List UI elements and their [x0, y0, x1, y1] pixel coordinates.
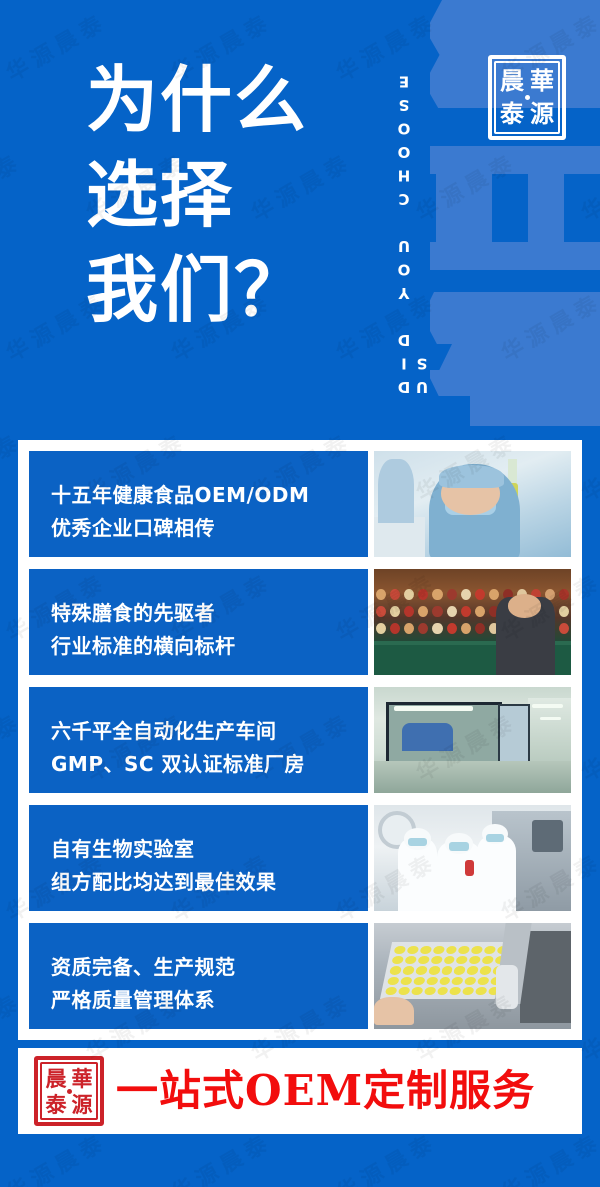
feature-card-2-photo [374, 569, 571, 675]
feature-card-2-line-2: 行业标准的横向标杆 [51, 630, 368, 663]
feature-card-4-photo [374, 805, 571, 911]
feature-card-3-photo [374, 687, 571, 793]
footer-brand-seal-icon: 晨 華 泰 源 [34, 1056, 104, 1126]
feature-card-3[interactable]: 六千平全自动化生产车间 GMP、SC 双认证标准厂房 [29, 687, 571, 793]
seal-char-3: 泰 [497, 98, 527, 132]
page-title: 为什么 选择 我们？ [86, 52, 406, 337]
footer-seal-char-1: 晨 [43, 1065, 69, 1091]
footer-banner: 晨 華 泰 源 一站式OEM定制服务 [18, 1048, 582, 1134]
feature-card-1-line-2: 优秀企业口碑相传 [51, 512, 368, 545]
feature-card-4-text: 自有生物实验室 组方配比均达到最佳效果 [29, 805, 368, 911]
headline-line-3: 我们？ [86, 242, 406, 337]
feature-card-5[interactable]: 资质完备、生产规范 严格质量管理体系 [29, 923, 571, 1029]
headline-line-1: 为什么 [86, 52, 406, 147]
feature-card-1-photo [374, 451, 571, 557]
feature-card-1-text: 十五年健康食品OEM/ODM 优秀企业口碑相传 [29, 451, 368, 557]
footer-seal-char-2: 華 [69, 1065, 95, 1091]
footer-slogan: 一站式OEM定制服务 [116, 1070, 535, 1112]
header-section: 为什么 选择 我们？ DID YOU CHOOSE US 晨 華 泰 源 [0, 0, 600, 432]
vertical-english-tagline: DID YOU CHOOSE US [395, 18, 421, 396]
footer-seal-char-4: 源 [69, 1091, 95, 1117]
poster-root: 为什么 选择 我们？ DID YOU CHOOSE US 晨 華 泰 源 十五年… [0, 0, 600, 1187]
feature-card-2[interactable]: 特殊膳食的先驱者 行业标准的横向标杆 [29, 569, 571, 675]
headline-line-2: 选择 [86, 147, 406, 242]
feature-card-3-text: 六千平全自动化生产车间 GMP、SC 双认证标准厂房 [29, 687, 368, 793]
feature-card-1-line-1: 十五年健康食品OEM/ODM [51, 479, 368, 512]
footer-seal-char-3: 泰 [43, 1091, 69, 1117]
seal-char-4: 源 [527, 98, 557, 132]
seal-char-2: 華 [527, 64, 557, 98]
feature-card-5-text: 资质完备、生产规范 严格质量管理体系 [29, 923, 368, 1029]
feature-cards-frame: 十五年健康食品OEM/ODM 优秀企业口碑相传 特殊膳食的先驱者 行业标准的横向… [18, 440, 582, 1040]
feature-card-4-line-2: 组方配比均达到最佳效果 [51, 866, 368, 899]
brand-seal-icon: 晨 華 泰 源 [488, 55, 566, 140]
feature-card-3-line-1: 六千平全自动化生产车间 [51, 715, 368, 748]
feature-card-4-line-1: 自有生物实验室 [51, 833, 368, 866]
feature-card-5-line-1: 资质完备、生产规范 [51, 951, 368, 984]
feature-card-5-photo [374, 923, 571, 1029]
feature-card-3-line-2: GMP、SC 双认证标准厂房 [51, 748, 368, 781]
seal-char-1: 晨 [497, 64, 527, 98]
feature-card-4[interactable]: 自有生物实验室 组方配比均达到最佳效果 [29, 805, 571, 911]
feature-card-2-line-1: 特殊膳食的先驱者 [51, 597, 368, 630]
feature-card-5-line-2: 严格质量管理体系 [51, 984, 368, 1017]
feature-card-1[interactable]: 十五年健康食品OEM/ODM 优秀企业口碑相传 [29, 451, 571, 557]
feature-card-2-text: 特殊膳食的先驱者 行业标准的横向标杆 [29, 569, 368, 675]
